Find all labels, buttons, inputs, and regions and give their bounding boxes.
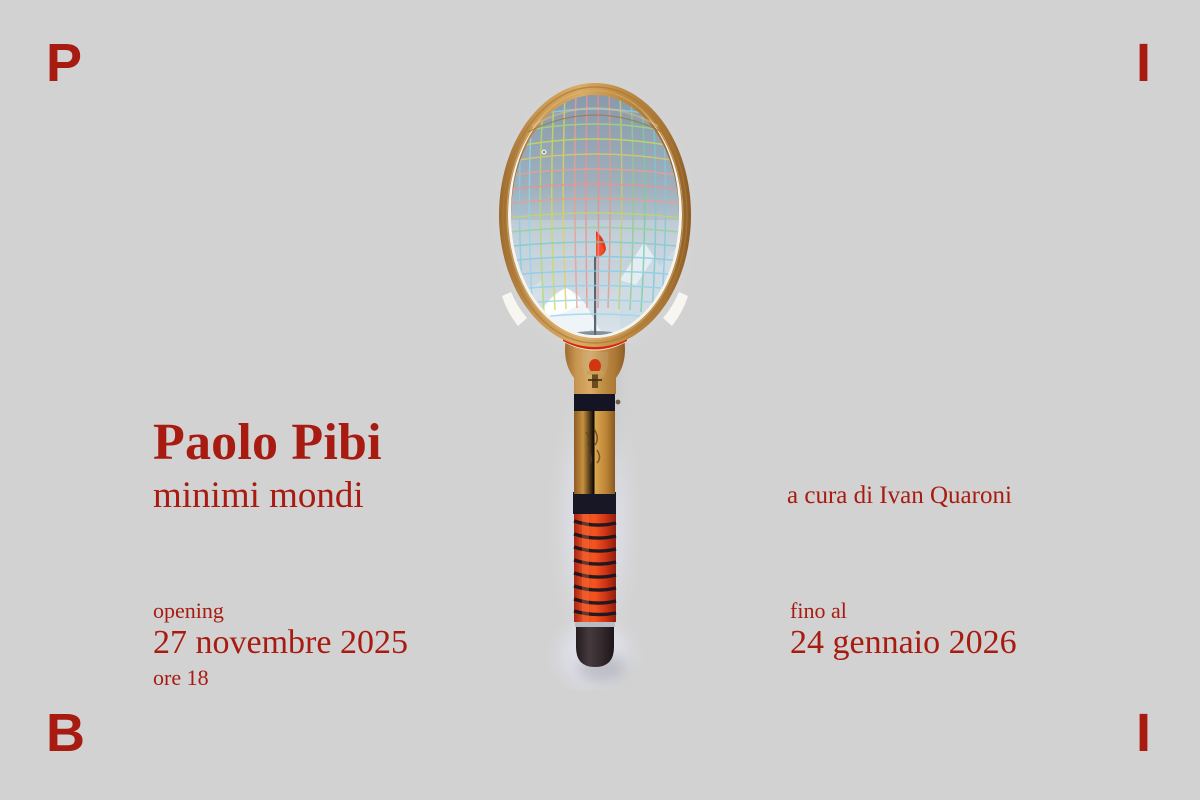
opening-label: opening	[153, 598, 408, 623]
racket-artwork-image: SUPER	[470, 80, 720, 690]
exhibition-poster: P I B I	[0, 0, 1200, 800]
exhibition-subtitle: minimi mondi	[153, 475, 382, 516]
corner-mark-bottom-right: I	[1136, 706, 1151, 760]
artist-name: Paolo Pibi	[153, 415, 382, 471]
opening-time: ore 18	[153, 665, 408, 690]
artist-block: Paolo Pibi minimi mondi	[153, 415, 382, 517]
opening-date: 27 novembre 2025	[153, 624, 408, 662]
corner-mark-top-left: P	[46, 36, 82, 90]
opening-block: opening 27 novembre 2025 ore 18	[153, 598, 408, 691]
curator-credit: a cura di Ivan Quaroni	[787, 482, 1012, 510]
corner-mark-bottom-left: B	[46, 706, 85, 760]
corner-mark-top-right: I	[1136, 36, 1151, 90]
closing-date: 24 gennaio 2026	[790, 624, 1017, 662]
closing-label: fino al	[790, 598, 1017, 623]
closing-block: fino al 24 gennaio 2026	[790, 598, 1017, 662]
